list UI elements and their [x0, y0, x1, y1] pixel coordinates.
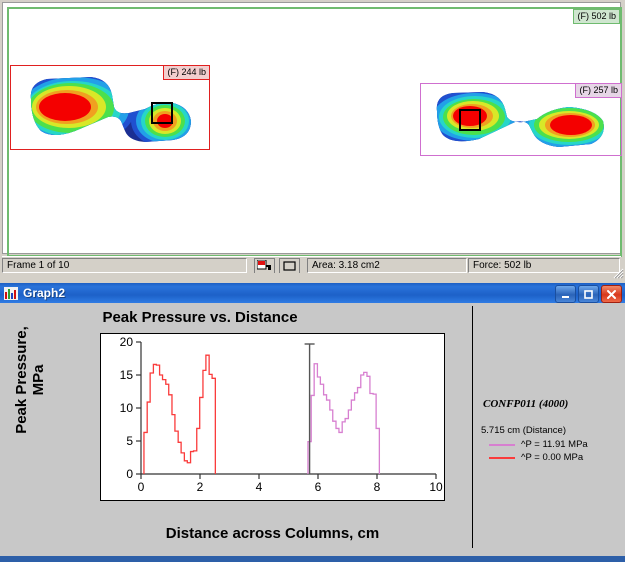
pressure-map-canvas[interactable]: (F) 502 lb [2, 2, 621, 254]
svg-text:0: 0 [126, 467, 133, 481]
graph-body: Peak Pressure vs. Distance Peak Pressure… [0, 303, 625, 556]
status-area: Area: 3.18 cm2 [307, 258, 467, 273]
svg-text:6: 6 [315, 480, 322, 494]
selection-right-region[interactable]: (F) 257 lb [420, 83, 622, 156]
graph-window: Graph2 Peak Pressure vs. [0, 280, 625, 562]
screenshot-root: (F) 502 lb [0, 0, 625, 562]
legend-subtitle: 5.715 cm (Distance) [481, 425, 566, 436]
graph-title-text: Graph2 [23, 286, 65, 300]
svg-text:15: 15 [120, 368, 134, 382]
svg-text:10: 10 [429, 480, 443, 494]
svg-text:20: 20 [120, 335, 134, 349]
legend-pane: CONFP011 (4000) 5.715 cm (Distance) ^P =… [473, 303, 625, 556]
region-select-icon[interactable] [254, 258, 275, 273]
svg-text:8: 8 [374, 480, 381, 494]
legend-swatch-0 [489, 444, 515, 446]
selection-label-left-region: (F) 244 lb [163, 65, 210, 80]
graph-icon [4, 287, 18, 300]
maximize-button[interactable] [578, 285, 599, 303]
legend-entry-0[interactable]: ^P = 11.91 MPa [489, 439, 588, 450]
legend-title: CONFP011 (4000) [483, 398, 568, 410]
legend-label-1: ^P = 0.00 MPa [521, 452, 583, 463]
status-icon-group [248, 258, 306, 273]
svg-text:4: 4 [256, 480, 263, 494]
legend-label-0: ^P = 11.91 MPa [521, 439, 588, 450]
window-buttons [555, 285, 622, 303]
svg-text:5: 5 [126, 434, 133, 448]
svg-text:2: 2 [197, 480, 204, 494]
graph-bottom-edge [0, 556, 625, 562]
selection-label-right-region: (F) 257 lb [575, 83, 622, 98]
graph-titlebar[interactable]: Graph2 [0, 283, 625, 303]
plot-svg: 024681005101520 [101, 334, 444, 500]
selection-left-region[interactable]: (F) 244 lb [10, 65, 210, 150]
svg-text:0: 0 [138, 480, 145, 494]
chart-ylabel: Peak Pressure, MPa [13, 310, 47, 450]
svg-text:10: 10 [120, 401, 134, 415]
chart-title: Peak Pressure vs. Distance [0, 309, 400, 326]
selection-label-whole-sensor: (F) 502 lb [573, 9, 620, 24]
status-force: Force: 502 lb [468, 258, 620, 273]
legend-entry-1[interactable]: ^P = 0.00 MPa [489, 452, 583, 463]
close-button[interactable] [601, 285, 622, 303]
legend-swatch-1 [489, 457, 515, 459]
box-select-icon[interactable] [279, 258, 300, 273]
plot-pane: Peak Pressure vs. Distance Peak Pressure… [0, 303, 472, 556]
status-bar: Frame 1 of 10 Area: 3.18 cm2 Force: 502 … [2, 256, 621, 274]
status-frame: Frame 1 of 10 [2, 258, 247, 273]
resize-grip[interactable] [612, 267, 624, 279]
chart-xlabel: Distance across Columns, cm [95, 525, 450, 542]
minimize-button[interactable] [555, 285, 576, 303]
plot-area[interactable]: 024681005101520 [100, 333, 445, 501]
pressure-map-window: (F) 502 lb [0, 0, 625, 280]
